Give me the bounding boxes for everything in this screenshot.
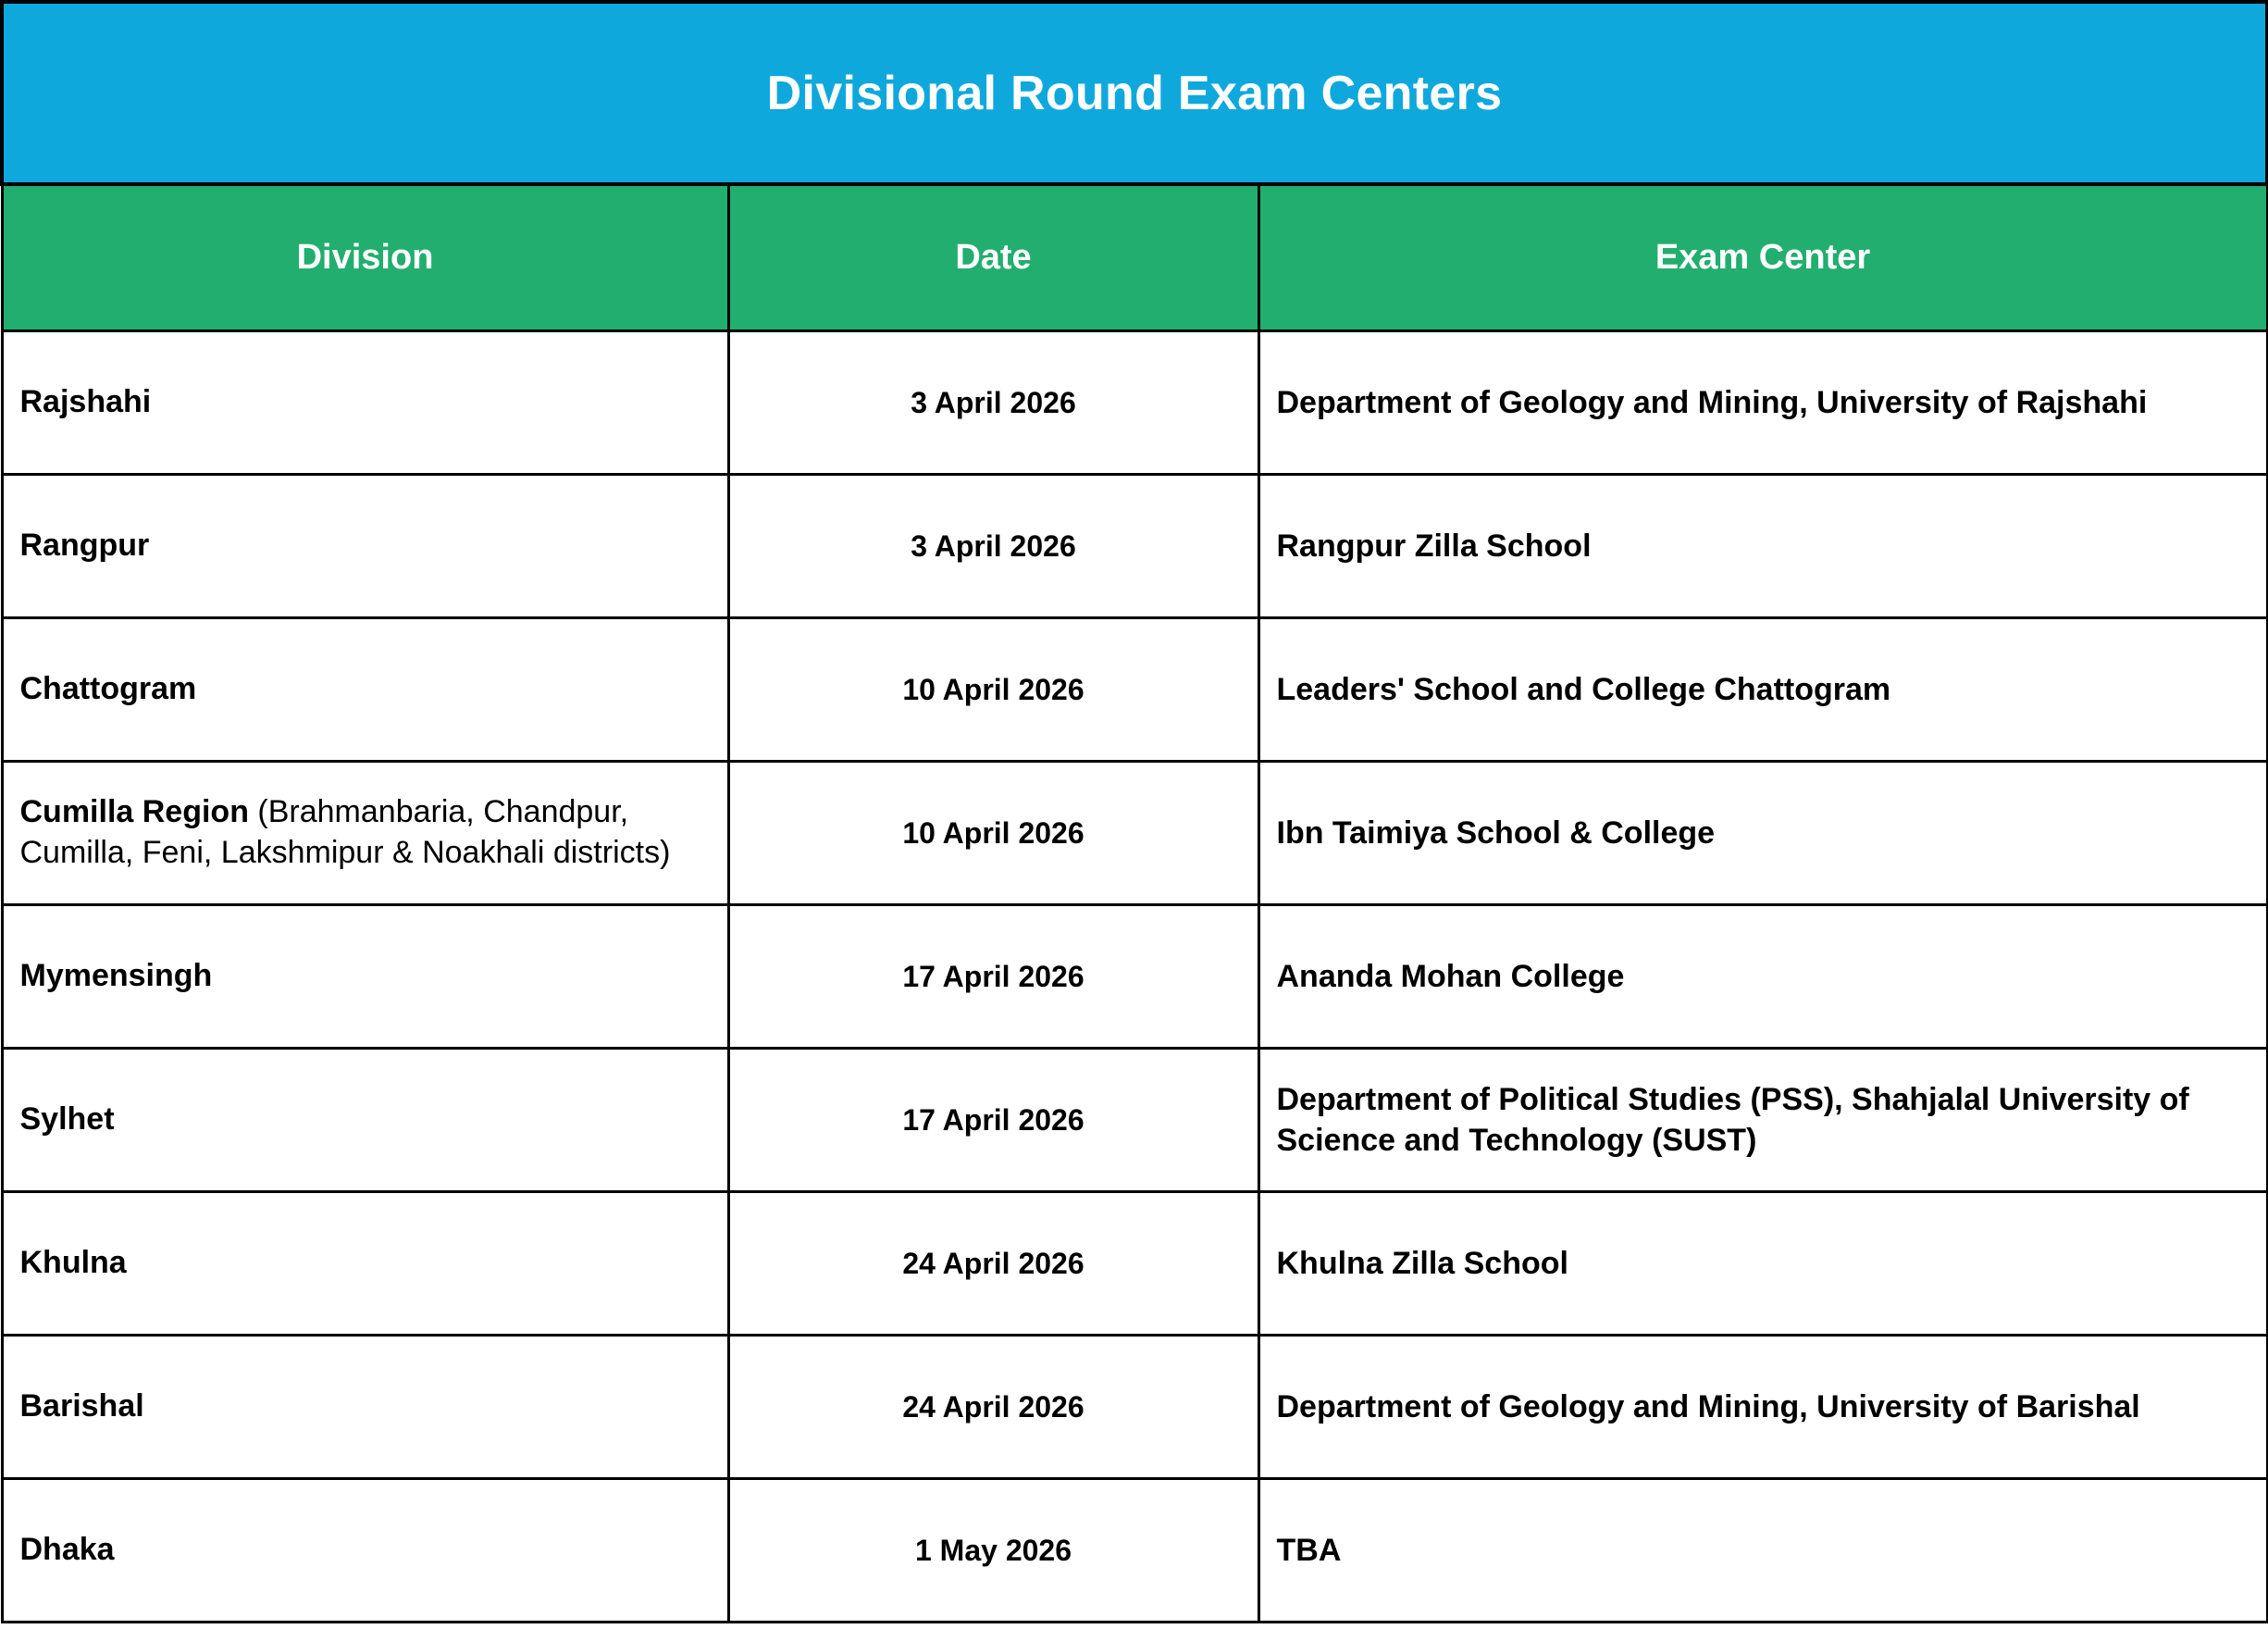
cell-exam-center: Rangpur Zilla School	[1258, 475, 2267, 618]
table-row: Dhaka1 May 2026TBA	[2, 1479, 2267, 1623]
table-row: Sylhet17 April 2026Department of Politic…	[2, 1049, 2267, 1192]
division-name: Sylhet	[20, 1101, 115, 1137]
cell-division: Chattogram	[2, 618, 728, 762]
cell-date: 10 April 2026	[728, 618, 1258, 762]
table-body: Rajshahi3 April 2026Department of Geolog…	[2, 331, 2267, 1623]
cell-exam-center: Khulna Zilla School	[1258, 1192, 2267, 1336]
table-row: Rangpur3 April 2026Rangpur Zilla School	[2, 475, 2267, 618]
table-row: Rajshahi3 April 2026Department of Geolog…	[2, 331, 2267, 475]
division-name: Mymensingh	[20, 958, 213, 993]
cell-date: 24 April 2026	[728, 1192, 1258, 1336]
division-name: Dhaka	[20, 1532, 115, 1567]
column-header-exam-center: Exam Center	[1258, 184, 2267, 331]
cell-date: 1 May 2026	[728, 1479, 1258, 1623]
exam-centers-table-container: Divisional Round Exam Centers Division D…	[0, 0, 2268, 1629]
cell-date: 17 April 2026	[728, 1049, 1258, 1192]
division-name: Barishal	[20, 1388, 144, 1424]
cell-exam-center: TBA	[1258, 1479, 2267, 1623]
cell-division: Rajshahi	[2, 331, 728, 475]
cell-division: Rangpur	[2, 475, 728, 618]
table-header-row: Division Date Exam Center	[2, 184, 2267, 331]
cell-division: Mymensingh	[2, 905, 728, 1049]
column-header-division: Division	[2, 184, 728, 331]
cell-exam-center: Ananda Mohan College	[1258, 905, 2267, 1049]
table-row: Mymensingh17 April 2026Ananda Mohan Coll…	[2, 905, 2267, 1049]
cell-date: 3 April 2026	[728, 475, 1258, 618]
division-name: Cumilla Region	[20, 794, 249, 829]
cell-date: 10 April 2026	[728, 762, 1258, 905]
table-title-row: Divisional Round Exam Centers	[2, 2, 2267, 184]
table-row: Khulna24 April 2026Khulna Zilla School	[2, 1192, 2267, 1336]
cell-exam-center: Ibn Taimiya School & College	[1258, 762, 2267, 905]
cell-exam-center: Department of Geology and Mining, Univer…	[1258, 331, 2267, 475]
division-name: Rangpur	[20, 528, 150, 563]
column-header-date: Date	[728, 184, 1258, 331]
page-title: Divisional Round Exam Centers	[2, 2, 2267, 184]
division-name: Chattogram	[20, 671, 197, 706]
cell-date: 3 April 2026	[728, 331, 1258, 475]
exam-centers-table: Divisional Round Exam Centers Division D…	[0, 0, 2268, 1623]
table-row: Barishal24 April 2026Department of Geolo…	[2, 1336, 2267, 1479]
cell-exam-center: Leaders' School and College Chattogram	[1258, 618, 2267, 762]
table-row: Cumilla Region (Brahmanbaria, Chandpur, …	[2, 762, 2267, 905]
division-name: Khulna	[20, 1245, 127, 1280]
cell-division: Khulna	[2, 1192, 728, 1336]
cell-date: 17 April 2026	[728, 905, 1258, 1049]
cell-division: Barishal	[2, 1336, 728, 1479]
cell-division: Sylhet	[2, 1049, 728, 1192]
cell-exam-center: Department of Political Studies (PSS), S…	[1258, 1049, 2267, 1192]
cell-division: Dhaka	[2, 1479, 728, 1623]
table-row: Chattogram10 April 2026Leaders' School a…	[2, 618, 2267, 762]
cell-date: 24 April 2026	[728, 1336, 1258, 1479]
cell-exam-center: Department of Geology and Mining, Univer…	[1258, 1336, 2267, 1479]
cell-division: Cumilla Region (Brahmanbaria, Chandpur, …	[2, 762, 728, 905]
division-name: Rajshahi	[20, 384, 152, 419]
